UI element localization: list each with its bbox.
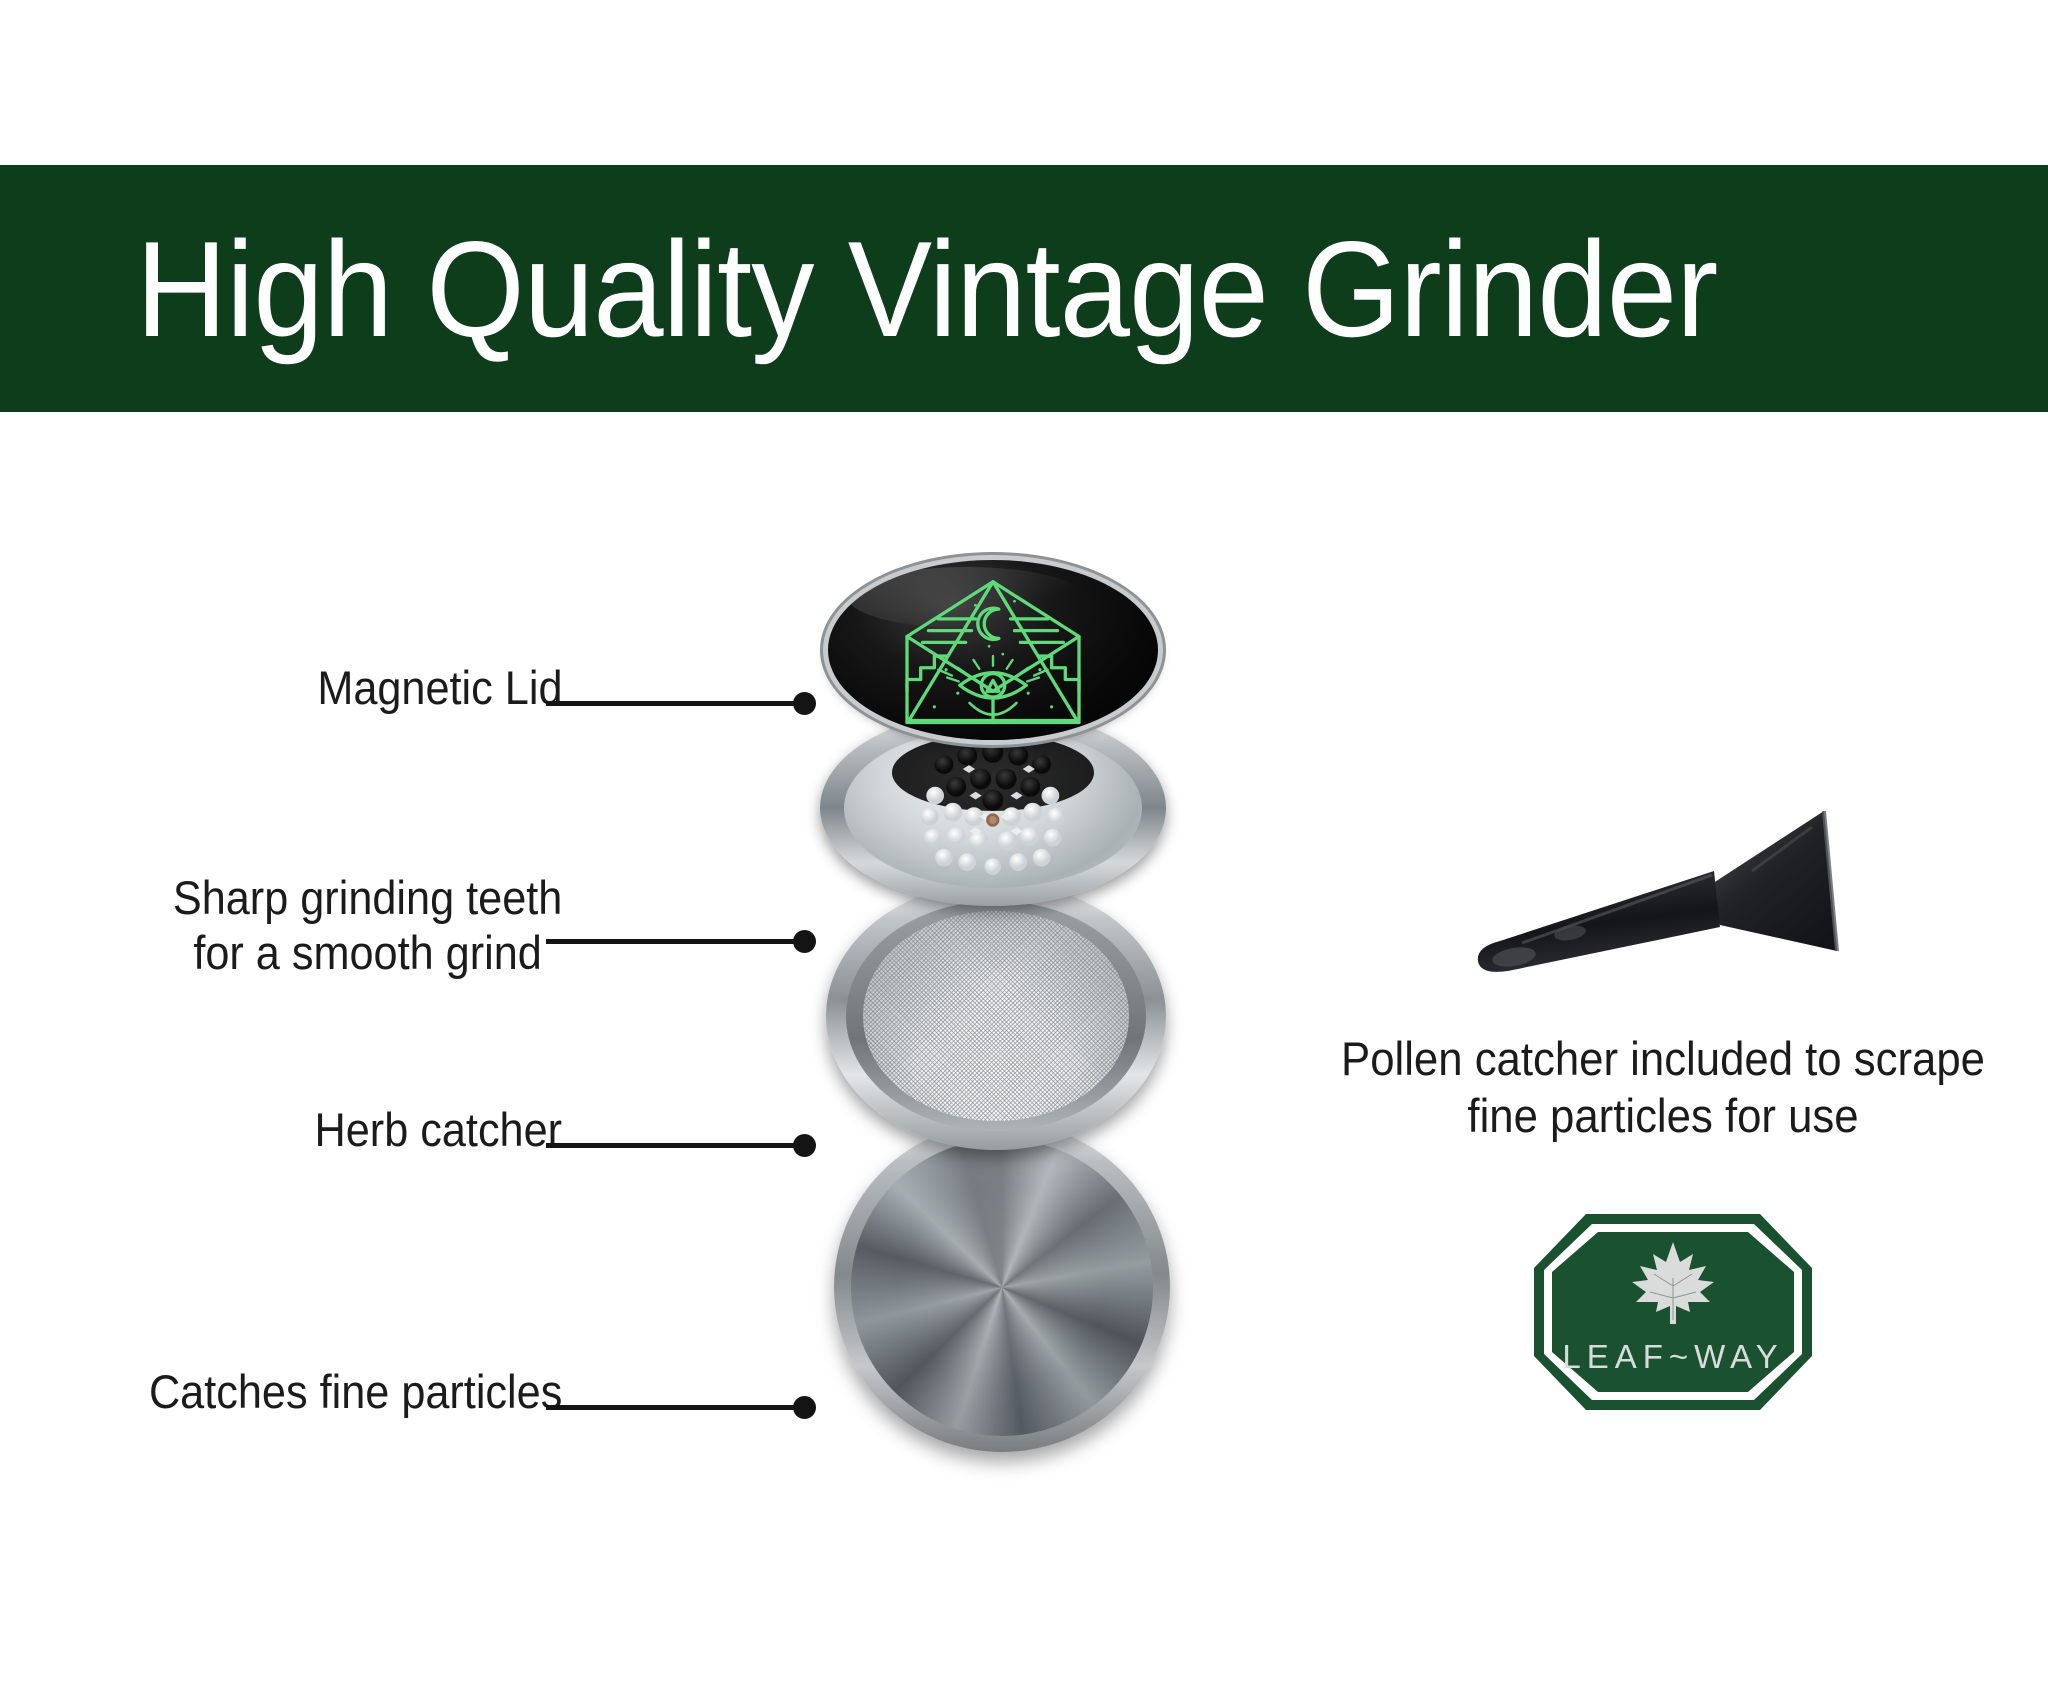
callout-label-fine-particles: Catches fine particles (149, 1364, 562, 1419)
callout-herb-catcher: Herb catcher (0, 1102, 830, 1157)
grinder-layer-magnetic-lid (828, 560, 1158, 740)
header-band: High Quality Vintage Grinder (0, 165, 2048, 412)
leaf-way-logo-badge: LEAF~WAY (1528, 1208, 1818, 1416)
leader-line-herb-catcher (546, 1143, 808, 1148)
base-sheen (834, 1122, 1170, 1452)
callout-fine-particles: Catches fine particles (0, 1364, 830, 1419)
grinder-exploded-view (806, 560, 1206, 1580)
scraper-caption-line1: Pollen catcher included to scrape (1296, 1030, 2031, 1087)
callout-grinding-teeth: Sharp grinding teeth for a smooth grind (0, 870, 830, 981)
grinder-layer-herb-catcher (826, 882, 1166, 1150)
mesh-screen (863, 911, 1128, 1120)
grinder-layer-pollen-chamber (834, 1122, 1170, 1452)
scraper-caption: Pollen catcher included to scrape fine p… (1268, 1030, 2048, 1145)
lid-disc (828, 560, 1158, 740)
scraper-blade (1704, 811, 1837, 951)
leader-line-fine-particles (546, 1405, 808, 1410)
callout-magnetic-lid: Magnetic Lid (0, 660, 830, 715)
pollen-catcher-scraper (1452, 775, 1922, 1005)
teeth-face (844, 728, 1142, 889)
callout-label-grinding-teeth-line1: Sharp grinding teeth (173, 871, 562, 924)
scraper-caption-line2: fine particles for use (1296, 1087, 2031, 1144)
callout-label-herb-catcher: Herb catcher (314, 1102, 562, 1157)
leader-line-grinding-teeth (546, 939, 808, 944)
callout-label-grinding-teeth: Sharp grinding teeth for a smooth grind (173, 870, 562, 981)
callout-label-grinding-teeth-line2: for a smooth grind (193, 926, 542, 979)
leader-line-magnetic-lid (546, 701, 808, 706)
teeth-hole-pattern (844, 728, 1142, 889)
page-title: High Quality Vintage Grinder (0, 221, 1717, 357)
callout-label-magnetic-lid: Magnetic Lid (317, 660, 562, 715)
sacred-geometry-icon (886, 576, 1101, 731)
badge-wordmark: LEAF~WAY (1562, 1338, 1783, 1375)
